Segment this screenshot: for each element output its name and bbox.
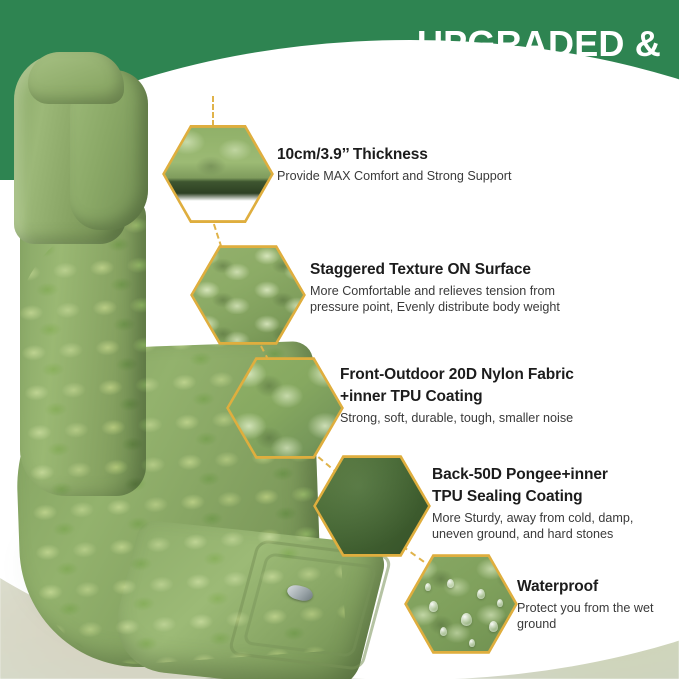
feature-description-line-2: ground: [517, 616, 679, 632]
water-droplet-icon: [425, 583, 431, 591]
water-droplet-icon: [447, 579, 454, 588]
feature-hex-staggered-texture: [190, 243, 306, 347]
water-droplet-icon: [469, 639, 475, 647]
feature-description-line-1: Protect you from the wet: [517, 600, 679, 616]
water-droplet-icon: [477, 589, 485, 599]
feature-heading: Waterproof: [517, 578, 679, 597]
feature-heading-line-2: TPU Sealing Coating: [432, 488, 679, 507]
hex-image-pongee-fabric: [316, 456, 428, 556]
water-droplet-icon: [429, 601, 438, 612]
feature-heading: 10cm/3.9’’ Thickness: [277, 146, 577, 165]
feature-heading: Staggered Texture ON Surface: [310, 261, 610, 280]
water-droplet-icon: [440, 627, 447, 636]
feature-description: Strong, soft, durable, tough, smaller no…: [340, 410, 650, 426]
feature-text-waterproof: Waterproof Protect you from the wet grou…: [517, 578, 679, 633]
feature-hex-front-fabric: [226, 355, 344, 461]
feature-hex-thickness: [162, 123, 274, 225]
feature-description: Provide MAX Comfort and Strong Support: [277, 168, 577, 184]
feature-heading-line-1: Back-50D Pongee+inner: [432, 466, 679, 485]
hex-image-staggered-texture: [193, 246, 303, 344]
feature-heading-line-2: +inner TPU Coating: [340, 388, 650, 407]
feature-description-line-1: More Sturdy, away from cold, damp,: [432, 510, 679, 526]
water-droplet-icon: [497, 599, 503, 607]
feature-hex-waterproof: [404, 552, 518, 656]
hex-image-thickness: [165, 126, 271, 222]
hex-image-waterproof: [407, 555, 515, 653]
hex-image-nylon-fabric: [229, 358, 341, 458]
feature-description-line-1: More Comfortable and relieves tension fr…: [310, 283, 610, 299]
feature-text-back-fabric: Back-50D Pongee+inner TPU Sealing Coatin…: [432, 466, 679, 543]
pad-pillow-top: [28, 52, 124, 104]
water-droplet-icon: [461, 613, 472, 626]
feature-text-front-fabric: Front-Outdoor 20D Nylon Fabric +inner TP…: [340, 366, 650, 426]
feature-text-thickness: 10cm/3.9’’ Thickness Provide MAX Comfort…: [277, 146, 577, 184]
feature-heading-line-1: Front-Outdoor 20D Nylon Fabric: [340, 366, 650, 385]
connector-top-stub: [212, 96, 214, 126]
feature-text-staggered-texture: Staggered Texture ON Surface More Comfor…: [310, 261, 610, 316]
water-droplet-icon: [489, 621, 498, 632]
feature-description-line-2: pressure point, Evenly distribute body w…: [310, 299, 610, 315]
feature-description-line-2: uneven ground, and hard stones: [432, 526, 679, 542]
infographic-canvas: UPGRADED & POWERFUL FEATURE: [0, 0, 679, 679]
feature-hex-back-fabric: [313, 453, 431, 559]
